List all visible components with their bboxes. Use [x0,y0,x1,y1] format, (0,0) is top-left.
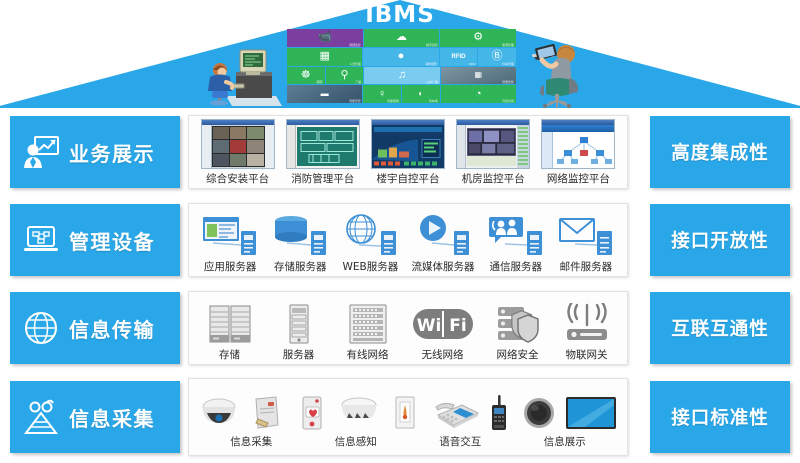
item-caption: WEB服务器 [343,259,399,274]
speaker-icon [519,395,559,431]
group-caption: 信息展示 [513,434,618,449]
item-caption: 有线网络 [347,347,389,362]
item-caption: 流媒体服务器 [412,259,475,274]
storage-rack-icon [204,303,256,345]
walkie-talkie-icon [486,395,512,431]
group-caption: 语音交互 [408,434,513,449]
laptop-network-icon [22,222,60,258]
server-tower-icon [273,303,325,345]
tile-video-intercom[interactable]: ◔ 可视对讲 [441,85,516,103]
sidebar-item-management-devices[interactable]: 管理设备 [10,204,180,276]
tile-public-broadcast[interactable]: ♫ 公共广播 [364,67,439,85]
panel-information-collection: 信息采集 信息感知 语音交互 信息展示 [188,378,628,456]
sidebar-label: 信息传输 [69,314,155,343]
people-chat-server-icon [487,213,545,257]
item-caption: 无线网络 [422,347,464,362]
item-caption: 存储 [219,347,240,362]
layer-row-information-collection: 信息采集 [0,373,800,461]
sidebar-item-information-transmission[interactable]: 信息传输 [10,292,180,364]
thermostat-panel-icon [385,395,425,431]
item-caption: 邮件服务器 [560,259,613,274]
tile-label: 照明 [317,80,323,85]
item-caption: 机房监控平台 [462,171,525,186]
list-item[interactable]: 网络监控平台 [541,116,615,188]
item-caption: 应用服务器 [204,259,257,274]
presentation-chart-person-icon [22,134,60,170]
svg-text:Fi: Fi [449,316,466,336]
item-caption: 通信服务器 [489,259,542,274]
feature-card-standard-interface[interactable]: 接口标准性 [650,381,790,453]
list-item[interactable]: 存储 [204,292,256,364]
layer-row-information-transmission: 信息传输 [0,285,800,371]
key-icon: ⚲ [340,70,348,81]
tile-label: 门禁 [356,80,362,85]
layers-container: 业务展示 [0,108,800,463]
tile-energy-management[interactable]: ⚙ 能源管理 [440,29,516,47]
envelope-server-icon [557,213,615,257]
item-caption: 网络安全 [497,347,539,362]
tile-access-control[interactable]: ⚲ 门禁 [326,67,364,85]
dome-camera-icon [199,395,239,431]
application-window-server-icon [201,213,259,257]
building-photo-icon: ▦ [475,71,483,79]
tile-label: 智能照明 [388,99,399,104]
water-drop-icon: ● [398,51,405,62]
car-icon: ◐ [418,90,423,98]
server-shield-icon [492,303,544,345]
smoke-detector-icon [339,395,379,431]
tile-smart-building[interactable]: ▦ 智能建筑 [441,67,516,85]
tile-label: 消防报警 [425,61,436,66]
item-caption: 存储服务器 [274,259,327,274]
cloud-icon: ☁ [396,32,407,43]
list-item[interactable]: 应用服务器 [201,204,259,276]
tile-rfid[interactable]: RFID RFID [440,48,478,66]
card-reader-icon [246,395,286,431]
color-palette-icon: ☸ [301,70,311,81]
panel-business-display: 综合安装平台 [188,115,628,189]
list-item[interactable]: 楼宇自控平台 [371,116,445,188]
feature-label: 接口开放性 [671,227,769,253]
tile-label: 楼宇自控 [426,42,437,47]
globe-grid-icon [22,310,60,346]
person-with-laptop-on-chair-icon [522,40,594,108]
tile-parking-lot[interactable]: ◐ 停车场 [402,85,440,103]
tile-row: 📹 视频监控 ☁ 楼宇自控 ⚙ 能源管理 [287,29,516,47]
list-item[interactable]: 物联网关 [561,292,613,364]
tile-label: 智能建筑 [503,80,514,85]
sidebar-label: 业务展示 [69,138,155,167]
list-item[interactable]: 网络安全 [492,292,544,364]
emergency-call-button-icon [292,395,332,431]
tile-row: ▦ 人员管理 ● 消防报警 RFID RFID Ⓑ 停车管理 [287,48,516,66]
svg-text:Wi: Wi [416,316,441,336]
desk-telephone-icon [432,395,480,431]
item-caption: 综合安装平台 [206,171,269,186]
list-item[interactable]: 存储服务器 [271,204,329,276]
person-at-desktop-computer-icon [196,44,282,106]
layer-row-business-display: 业务展示 [0,109,800,195]
group-caption: 信息感知 [304,434,409,449]
list-item[interactable]: WEB服务器 [341,204,399,276]
feature-card-interconnectivity[interactable]: 互联互通性 [650,292,790,364]
roof-section: IBMS 📹 视频监控 ☁ 楼宇自控 ⚙ 能源管理 ▦ 人员管理 ● [0,0,800,108]
tile-row: ▬ 智能家居 ♀ 智能照明 ◐ 停车场 ◔ 可视对讲 [287,85,516,103]
feature-card-open-interface[interactable]: 接口开放性 [650,204,790,276]
list-item[interactable]: 有线网络 [342,292,394,364]
tile-label: 人员管理 [349,61,360,66]
tile-label: 可视对讲 [503,99,514,104]
tile-fire-alarm[interactable]: ● 消防报警 [363,48,438,66]
cctv-camera-icon: 📹 [318,32,332,43]
tile-label: 视频监控 [349,42,360,47]
roof-tile-mosaic: 📹 视频监控 ☁ 楼宇自控 ⚙ 能源管理 ▦ 人员管理 ● 消防报警 RFID [287,29,516,103]
panel-management-devices: 应用服务器 存储服务器 [188,203,628,277]
play-button-server-icon [414,213,472,257]
list-item[interactable]: 服务器 [273,292,325,364]
datacenter-monitor-screenshot [456,119,530,169]
network-switch-rack-icon [342,303,394,345]
music-note-icon: ♫ [398,70,406,81]
lamp-icon: ♀ [378,89,386,100]
item-caption: 楼宇自控平台 [376,171,439,186]
tile-smart-home[interactable]: ▬ 智能家居 [287,85,362,103]
tile-parking-management[interactable]: Ⓑ 停车管理 [478,48,516,66]
tile-label: 公共广播 [426,80,437,85]
feature-card-high-integration[interactable]: 高度集成性 [650,116,790,188]
gear-icon: ⚙ [473,32,483,43]
control-room-photo-icon: ▬ [321,90,329,98]
feature-label: 互联互通性 [671,315,769,341]
item-caption: 物联网关 [566,347,608,362]
people-group-pyramid-icon [22,399,60,435]
tile-video-surveillance[interactable]: 📹 视频监控 [287,29,363,47]
sidebar-item-information-collection[interactable]: 信息采集 [10,381,180,453]
tile-label: 能源管理 [503,42,514,47]
tile-personnel-management[interactable]: ▦ 人员管理 [287,48,362,66]
list-item[interactable]: 综合安装平台 [201,116,275,188]
panel-information-transmission: 存储 服务器 [188,291,628,365]
tile-lighting[interactable]: ☸ 照明 [287,67,325,85]
item-caption: 服务器 [283,347,315,362]
list-item[interactable]: 通信服务器 [487,204,545,276]
list-item[interactable]: 消防管理平台 [286,116,360,188]
layer-row-management-devices: 管理设备 应用服务器 [0,197,800,283]
badge-icon: Ⓑ [492,51,503,62]
rfid-icon: RFID [451,54,465,60]
fire-alarm-plan-screenshot [286,119,360,169]
sidebar-label: 信息采集 [69,403,155,432]
tile-label: 停车管理 [503,61,514,66]
tile-building-automation[interactable]: ☁ 楼宇自控 [364,29,440,47]
feature-label: 接口标准性 [671,404,769,430]
tile-label: RFID [469,62,476,66]
sidebar-label: 管理设备 [69,226,155,255]
list-item[interactable]: 机房监控平台 [456,116,530,188]
item-caption: 网络监控平台 [547,171,610,186]
feature-label: 高度集成性 [671,139,769,165]
tile-smart-lighting[interactable]: ♀ 智能照明 [363,85,401,103]
wifi-logo-icon: Wi Fi [411,303,475,345]
sidebar-item-business-display[interactable]: 业务展示 [10,116,180,188]
list-item[interactable]: 流媒体服务器 [412,204,475,276]
network-topology-screenshot [541,119,615,169]
group-caption: 信息采集 [199,434,304,449]
item-caption: 消防管理平台 [291,171,354,186]
map-pin-icon: ◔ [475,89,482,100]
tile-label: 停车场 [429,99,438,104]
building-automation-screenshot [371,119,445,169]
list-item[interactable]: 邮件服务器 [557,204,615,276]
globe-wireframe-server-icon [341,213,399,257]
list-item[interactable]: Wi Fi 无线网络 [411,292,475,364]
display-monitor-icon [565,395,617,431]
wireless-router-icon [561,303,613,345]
cctv-multiview-screenshot [201,119,275,169]
table-grid-icon: ▦ [319,51,329,62]
tile-label: 智能家居 [349,99,360,104]
tile-row: ☸ 照明 ⚲ 门禁 ♫ 公共广播 ▦ 智能建筑 [287,67,516,85]
database-cylinder-server-icon [271,213,329,257]
page-title: IBMS [0,2,800,28]
